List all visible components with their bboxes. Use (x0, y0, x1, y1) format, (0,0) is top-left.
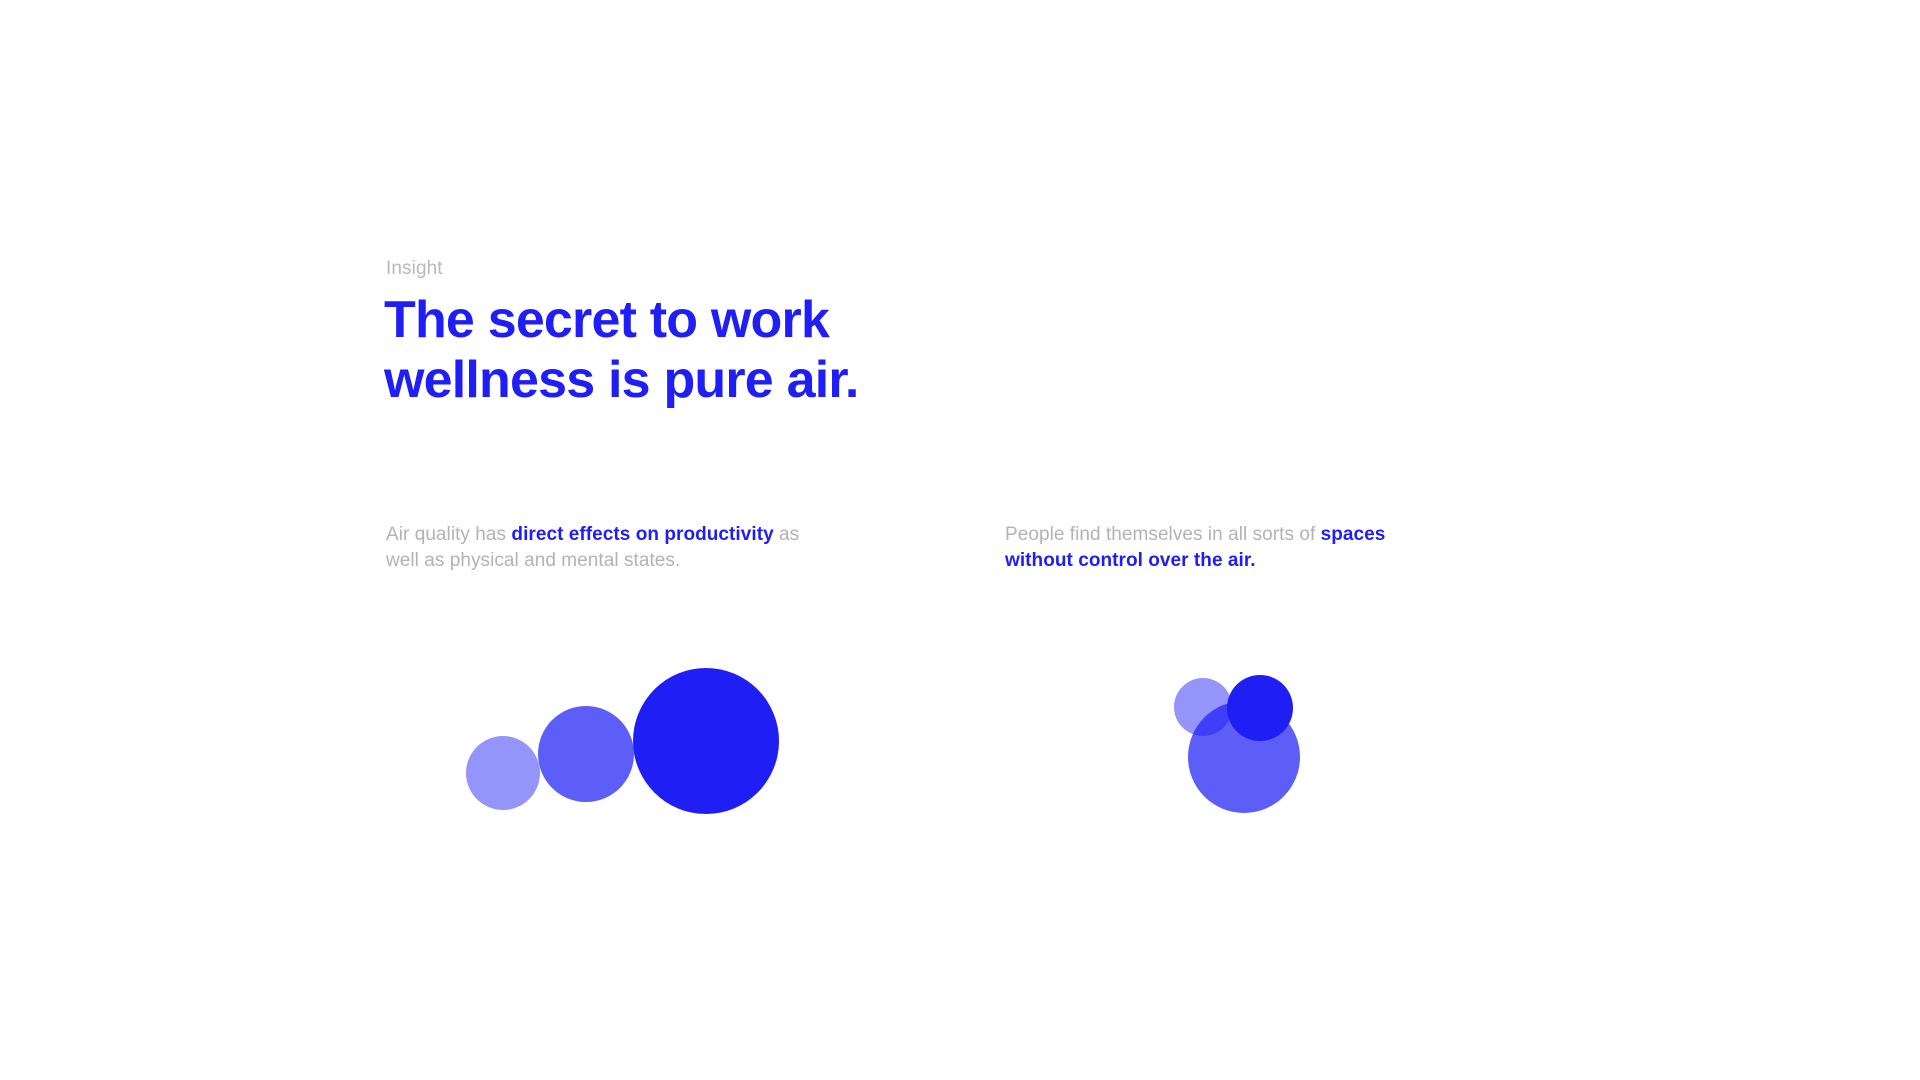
bubble-light-icon (1174, 678, 1232, 736)
eyebrow-label: Insight (386, 258, 443, 281)
page-title: The secret to work wellness is pure air. (384, 290, 944, 410)
headline-line-1: The secret to work (384, 290, 944, 350)
bubble-large-icon (633, 668, 779, 814)
bubble-small-icon (466, 736, 540, 810)
body-copy-spaces: People find themselves in all sorts of s… (1005, 522, 1405, 573)
bubble-diagram-productivity (0, 0, 1920, 1080)
copy-segment-accent: direct effects on productivity (511, 524, 773, 545)
bubble-diagram-spaces (0, 0, 1920, 1080)
headline-line-2: wellness is pure air. (384, 350, 944, 410)
copy-segment-plain: People find themselves in all sorts of (1005, 524, 1321, 545)
bubble-medium-icon (1188, 701, 1300, 813)
bubble-dark-icon (1227, 675, 1293, 741)
slide-canvas: Insight The secret to work wellness is p… (0, 0, 1920, 1080)
copy-segment-plain: Air quality has (386, 524, 511, 545)
bubble-medium-icon (538, 706, 634, 802)
body-copy-productivity: Air quality has direct effects on produc… (386, 522, 806, 573)
